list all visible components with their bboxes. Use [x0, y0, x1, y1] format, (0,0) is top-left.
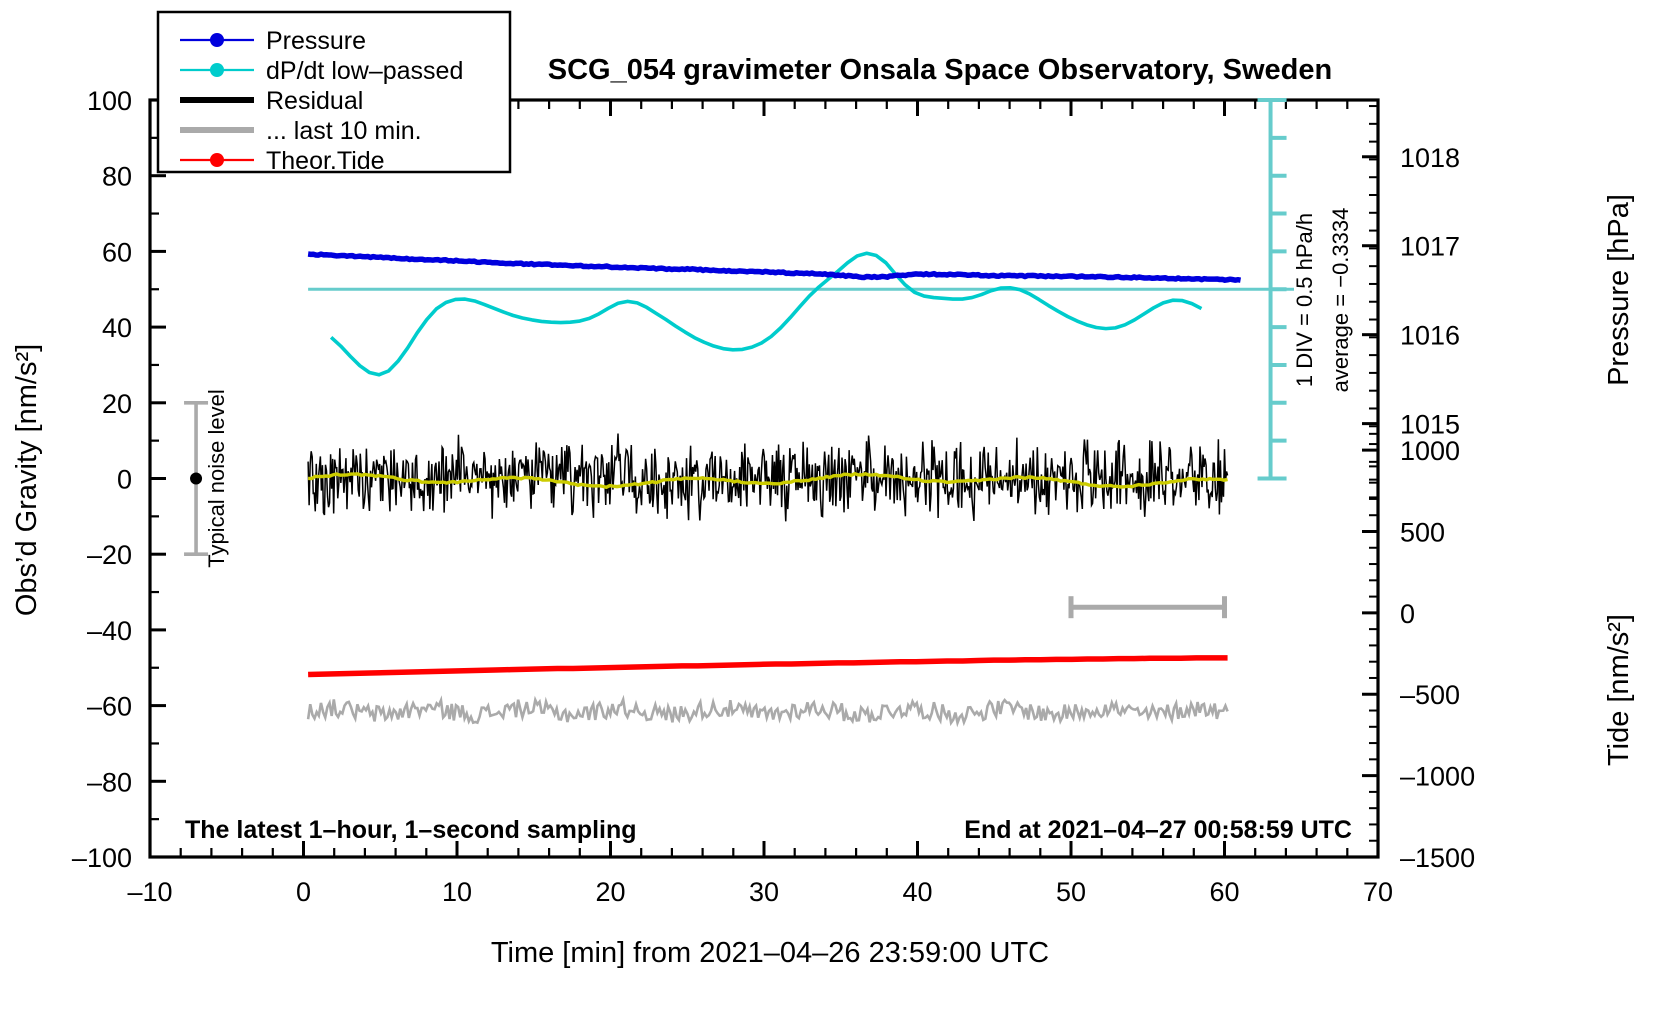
noise-level-label: Typical noise level: [204, 389, 229, 568]
x-tick-label: –10: [127, 877, 172, 907]
x-tick-label: 70: [1363, 877, 1393, 907]
legend-marker-1: [210, 63, 224, 77]
x-tick-label: 60: [1209, 877, 1239, 907]
footer-right-label: End at 2021–04–27 00:58:59 UTC: [964, 816, 1352, 844]
legend-label-4: Theor.Tide: [266, 147, 385, 175]
y-tick-label: –100: [72, 843, 132, 873]
footer-left-label: The latest 1–hour, 1–second sampling: [185, 816, 637, 844]
y-tick-label: –20: [87, 540, 132, 570]
tide-tick-label: –500: [1400, 680, 1460, 710]
legend-label-3: ... last 10 min.: [266, 117, 422, 145]
y-tick-label: 60: [102, 237, 132, 267]
series-theor-tide: [308, 658, 1227, 675]
legend-label-1: dP/dt low–passed: [266, 57, 463, 85]
y-tick-label: 100: [87, 86, 132, 116]
legend-marker-4: [210, 153, 224, 167]
series-last-10-min: [308, 699, 1227, 722]
tide-tick-label: 1000: [1400, 436, 1460, 466]
pressure-tick-label: 1018: [1400, 143, 1460, 173]
pressure-tick-label: 1016: [1400, 321, 1460, 351]
noise-bar-dot: [190, 473, 202, 485]
gravimeter-plot: –10010203040506070–100–80–60–40–20020406…: [0, 0, 1660, 1020]
y-axis-label: Obs’d Gravity [nm/s²]: [11, 344, 43, 616]
series-pressure: [308, 254, 1240, 280]
x-tick-label: 40: [902, 877, 932, 907]
legend-marker-0: [210, 33, 224, 47]
y-tick-label: 0: [117, 465, 132, 495]
tide-tick-label: –1500: [1400, 843, 1475, 873]
y-tick-label: –80: [87, 767, 132, 797]
pressure-axis-label: Pressure [hPa]: [1603, 194, 1635, 386]
tide-axis-label: Tide [nm/s²]: [1603, 614, 1635, 766]
x-tick-label: 50: [1056, 877, 1086, 907]
x-axis-label: Time [min] from 2021–04–26 23:59:00 UTC: [491, 937, 1049, 969]
tide-tick-label: –1000: [1400, 762, 1475, 792]
pressure-tick-label: 1017: [1400, 232, 1460, 262]
series-residual: [308, 434, 1227, 522]
legend-label-0: Pressure: [266, 27, 366, 55]
y-tick-label: 20: [102, 389, 132, 419]
pressure-tick-label: 1015: [1400, 410, 1460, 440]
tide-tick-label: 0: [1400, 599, 1415, 629]
x-tick-label: 20: [595, 877, 625, 907]
dpdt-div-label: 1 DIV = 0.5 hPa/h: [1292, 213, 1317, 387]
legend-label-2: Residual: [266, 87, 363, 115]
tide-tick-label: 500: [1400, 517, 1445, 547]
chart-title: SCG_054 gravimeter Onsala Space Observat…: [548, 54, 1332, 86]
x-tick-label: 30: [749, 877, 779, 907]
x-tick-label: 0: [296, 877, 311, 907]
chart-canvas: –10010203040506070–100–80–60–40–20020406…: [0, 0, 1660, 1020]
y-tick-label: –40: [87, 616, 132, 646]
x-tick-label: 10: [442, 877, 472, 907]
y-tick-label: –60: [87, 692, 132, 722]
y-tick-label: 80: [102, 162, 132, 192]
dpdt-average-label: average = −0.3334: [1328, 208, 1353, 393]
y-tick-label: 40: [102, 313, 132, 343]
